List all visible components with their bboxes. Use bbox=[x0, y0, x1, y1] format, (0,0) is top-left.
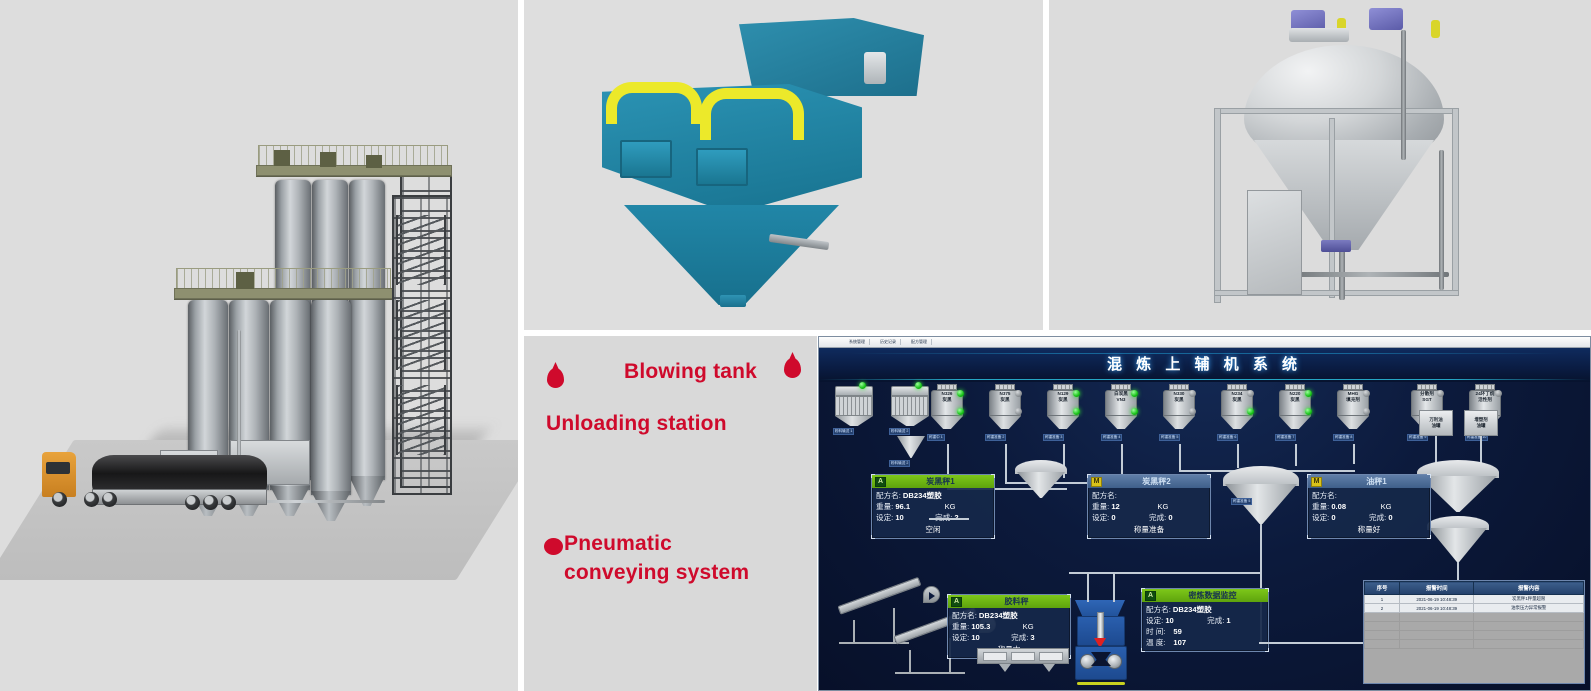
cell-content: 炭黑秤1秤量超限 bbox=[1474, 595, 1584, 604]
bottom-butterfly-valve bbox=[1321, 240, 1351, 252]
railing-lower bbox=[176, 268, 391, 290]
belt-tray bbox=[1011, 652, 1035, 661]
silo-label-line1: 24环丁烷 bbox=[1476, 391, 1495, 396]
silo-cone bbox=[1221, 416, 1253, 429]
silo-lamp-top-10 bbox=[1495, 390, 1502, 397]
silo-downpipe bbox=[1295, 444, 1297, 466]
card-header: M 油秤1 bbox=[1308, 475, 1430, 488]
card-header: A 胶料秤 bbox=[948, 595, 1070, 608]
card-body: 配方名: 重量: 12 KG 设定: 0 完成: bbox=[1088, 488, 1210, 538]
silo-tag-8: 称重准备 8 bbox=[1333, 434, 1354, 441]
temp-row: 温 度: 107 bbox=[1146, 637, 1264, 648]
silo-downpipe bbox=[1121, 444, 1123, 474]
weight-value: 96.1 bbox=[895, 501, 910, 512]
mode-badge: M bbox=[1311, 477, 1322, 487]
feeder-tag-2: 粉料输送 2 bbox=[889, 428, 910, 435]
silo-lamp-bottom-4 bbox=[1131, 408, 1138, 415]
silo-label-line1: N330 bbox=[1174, 391, 1185, 396]
truck-cab bbox=[42, 452, 76, 497]
setpoint-value: 10 bbox=[895, 512, 903, 523]
silo-back-3 bbox=[349, 180, 385, 480]
recipe-label: 配方名: bbox=[1312, 490, 1337, 501]
conveyor-belt-1 bbox=[837, 577, 921, 615]
done-label: 完成: bbox=[1149, 512, 1166, 523]
card-header: A 炭黑秤1 bbox=[872, 475, 994, 488]
oil-tank-1-label: 万利油油罐 bbox=[1420, 417, 1452, 428]
conveyor-drive-1[interactable] bbox=[923, 586, 940, 603]
setpoint-label: 设定: bbox=[876, 512, 893, 523]
photo-silo-farm bbox=[0, 0, 518, 691]
truck-wheel bbox=[84, 492, 99, 507]
oil-tank-2-label: 增塑剂油罐 bbox=[1465, 417, 1497, 428]
menu-item-system[interactable]: 系统管理 bbox=[845, 339, 870, 345]
support-leg-mid bbox=[1329, 118, 1335, 298]
inlet-actuator bbox=[864, 52, 886, 84]
done-label: 完成: bbox=[1011, 632, 1028, 643]
caption-pneumatic-line1: Pneumatic bbox=[564, 532, 672, 557]
card-body: 配方名: 重量: 0.08 KG 设定: 0 完成: bbox=[1308, 488, 1430, 538]
feeder-lamp-1 bbox=[859, 382, 866, 389]
support-leg-left bbox=[1214, 108, 1221, 303]
silo-label-line1: 白炭黑 bbox=[1114, 391, 1128, 396]
silo-label-line2: SGT bbox=[1422, 397, 1431, 402]
silo-lamp-top-9 bbox=[1437, 390, 1444, 397]
support-leg-right bbox=[1452, 108, 1459, 293]
menu-item-history[interactable]: 历史记录 bbox=[876, 339, 901, 345]
alarm-table[interactable]: 序号 报警时间 报警内容 1 2021-06-19 10:48:39 炭黑秤1秤… bbox=[1363, 580, 1585, 684]
weight-row: 重量: 105.3 KG bbox=[952, 621, 1066, 632]
feeder-2-outlet-tag: 粉料输送 2 bbox=[889, 460, 910, 467]
truck-wheel bbox=[221, 495, 236, 510]
tanker-skirt bbox=[92, 489, 267, 505]
table-row-empty bbox=[1365, 640, 1584, 649]
blower-unit-2 bbox=[320, 152, 336, 167]
belt-support bbox=[999, 664, 1011, 672]
card-title: 密炼数据监控 bbox=[1160, 590, 1265, 601]
feeder-lamp-2 bbox=[915, 382, 922, 389]
menu-item-recipe[interactable]: 配方管理 bbox=[907, 339, 932, 345]
cell-time: 2021-06-19 10:48:39 bbox=[1400, 604, 1474, 613]
status-text: 称量好 bbox=[1312, 524, 1426, 535]
weight-row: 重量: 0.08 KG bbox=[1312, 501, 1426, 512]
silo-cone bbox=[989, 416, 1021, 429]
stairs-flight-2 bbox=[396, 300, 446, 370]
cell-no: 1 bbox=[1365, 595, 1400, 604]
truck-wheel bbox=[203, 495, 218, 510]
silo-label-line1: 分散剂 bbox=[1420, 391, 1434, 396]
silo-lamp-top-7 bbox=[1305, 390, 1312, 397]
conveyor-leg bbox=[909, 650, 911, 672]
setpoint-label: 设定: bbox=[1092, 512, 1109, 523]
silo-label-line2: 炭黑 bbox=[1000, 397, 1009, 402]
mode-badge: A bbox=[1145, 591, 1156, 601]
recipe-row: 配方名: DB234塑胶 bbox=[952, 610, 1066, 621]
silo-tag-3: 称重准备 3 bbox=[1043, 434, 1064, 441]
weigh-funnel-tag: 称重准备 5 bbox=[1231, 498, 1252, 505]
setpoint-value: 10 bbox=[1165, 615, 1173, 626]
status-text: 称量准备 bbox=[1092, 524, 1206, 535]
weight-label: 重量: bbox=[876, 501, 893, 512]
photo-blowing-tank bbox=[1049, 0, 1591, 330]
recipe-row: 配方名: DB234塑胶 bbox=[876, 490, 990, 501]
hmi-title: 混 炼 上 辅 机 系 统 bbox=[819, 353, 1590, 374]
silo-label-line2: VN3 bbox=[1117, 397, 1126, 402]
silo-lamp-bottom-7 bbox=[1305, 408, 1312, 415]
weight-unit: KG bbox=[1381, 501, 1392, 512]
silo-tag-5: 称重准备 5 bbox=[1159, 434, 1180, 441]
weight-value: 105.3 bbox=[971, 621, 990, 632]
card-body: 配方名: DB234塑胶 设定: 10 完成: 1 时 间: 59 bbox=[1142, 602, 1268, 651]
recipe-label: 配方名: bbox=[1092, 490, 1117, 501]
recipe-row: 配方名: bbox=[1092, 490, 1206, 501]
stairs-flight-1 bbox=[396, 215, 446, 285]
silo-label-line1: N375 bbox=[1000, 391, 1011, 396]
silo-cone bbox=[1047, 416, 1079, 429]
recipe-value: DB234塑胶 bbox=[1173, 604, 1212, 615]
col-time: 报警时间 bbox=[1400, 582, 1474, 595]
alarm-table-grid: 序号 报警时间 报警内容 1 2021-06-19 10:48:39 炭黑秤1秤… bbox=[1364, 581, 1584, 649]
table-row[interactable]: 2 2021-06-19 10:48:39 油泵压力异常报警 bbox=[1365, 604, 1584, 613]
weight-label: 重量: bbox=[1312, 501, 1329, 512]
oil-tank-1[interactable]: 万利油油罐 bbox=[1419, 410, 1453, 436]
hmi-canvas: 混 炼 上 辅 机 系 统 粉料输送 1 粉料输送 2 粉料输送 2 bbox=[819, 348, 1590, 691]
tank-riser-pipe bbox=[1401, 30, 1406, 160]
feeder-2-cone bbox=[897, 436, 925, 458]
col-content: 报警内容 bbox=[1474, 582, 1584, 595]
recipe-value: DB234塑胶 bbox=[979, 610, 1018, 621]
card-title: 油秤1 bbox=[1326, 476, 1427, 487]
top-valve-actuator-2 bbox=[1369, 8, 1403, 30]
dot-marker-icon bbox=[544, 538, 563, 555]
blower-unit-4 bbox=[236, 272, 254, 289]
control-cabinet bbox=[1247, 190, 1302, 295]
hmi-menu-bar[interactable]: 系统管理 历史记录 配方管理 bbox=[819, 337, 1590, 348]
silo-tag-2: 称重准备 2 bbox=[985, 434, 1006, 441]
temp-value: 107 bbox=[1173, 637, 1186, 648]
silo-lamp-top-5 bbox=[1189, 390, 1196, 397]
mixer-feed-pipe bbox=[1113, 572, 1115, 602]
card-title: 炭黑秤1 bbox=[890, 476, 991, 487]
powder-feeder-2[interactable] bbox=[891, 386, 929, 426]
card-header: M 炭黑秤2 bbox=[1088, 475, 1210, 488]
silo-cone bbox=[1163, 416, 1195, 429]
silo-cone bbox=[1105, 416, 1137, 429]
silo-lamp-top-6 bbox=[1247, 390, 1254, 397]
silo-downpipe bbox=[1005, 444, 1007, 482]
silo-cone bbox=[1279, 416, 1311, 429]
silo-label-line1: MHG bbox=[1348, 391, 1359, 396]
return-pipe bbox=[1439, 150, 1444, 290]
feeder-tag-1: 粉料输送 1 bbox=[833, 428, 854, 435]
setpoint-label: 设定: bbox=[952, 632, 969, 643]
hopper-access-door-2 bbox=[696, 148, 748, 186]
col-no: 序号 bbox=[1365, 582, 1400, 595]
silo-lamp-bottom-8 bbox=[1363, 408, 1370, 415]
belt-tray bbox=[983, 652, 1007, 661]
temp-label: 温 度: bbox=[1146, 637, 1165, 648]
hopper-handle-right bbox=[700, 88, 804, 140]
oil-buffer-funnel-cone bbox=[1429, 528, 1487, 562]
blower-unit-1 bbox=[274, 150, 290, 166]
blower-unit-3 bbox=[366, 155, 382, 168]
stairs-flight-3 bbox=[396, 385, 446, 455]
silo-label-line2: 炭黑 bbox=[1290, 397, 1299, 402]
table-row-empty bbox=[1365, 631, 1584, 640]
silo-cone bbox=[1337, 416, 1369, 429]
caption-pneumatic-line2: conveying system bbox=[564, 561, 749, 586]
oil-tank-2-downpipe bbox=[1480, 436, 1482, 464]
hopper-handle-left bbox=[606, 82, 702, 124]
status-text: 空闲 bbox=[876, 524, 990, 535]
card-body: 配方名: DB234塑胶 重量: 96.1 KG 设定: 10 完 bbox=[872, 488, 994, 538]
alarm-table-header-row: 序号 报警时间 报警内容 bbox=[1365, 582, 1584, 595]
silo-lamp-bottom-2 bbox=[1015, 408, 1022, 415]
weight-row: 重量: 96.1 KG bbox=[876, 501, 990, 512]
recipe-label: 配方名: bbox=[952, 610, 977, 621]
silo-lamp-bottom-5 bbox=[1189, 408, 1196, 415]
silo-label-line2: 炭黑 bbox=[1174, 397, 1183, 402]
silo-front-4 bbox=[311, 300, 351, 495]
silo-lamp-bottom-1 bbox=[957, 408, 964, 415]
powder-feeder-1[interactable] bbox=[835, 386, 873, 426]
weight-row: 重量: 12 KG bbox=[1092, 501, 1206, 512]
hopper-outlet-flange bbox=[720, 295, 746, 307]
done-label: 完成: bbox=[1369, 512, 1386, 523]
silo-lamp-top-4 bbox=[1131, 390, 1138, 397]
hopper-access-door-1 bbox=[620, 140, 672, 178]
setpoint-row: 设定: 0 完成: 0 bbox=[1092, 512, 1206, 523]
photo-weigh-hopper bbox=[524, 0, 1043, 330]
truck-wheel bbox=[52, 492, 67, 507]
weigh-funnel-top bbox=[1223, 466, 1299, 486]
discharge-pipe-horizontal bbox=[1289, 272, 1449, 277]
top-manway bbox=[1289, 28, 1349, 42]
caption-blowing-tank: Blowing tank bbox=[624, 360, 757, 385]
cell-content: 油泵压力异常报警 bbox=[1474, 604, 1584, 613]
recipe-row: 配方名: DB234塑胶 bbox=[1146, 604, 1264, 615]
oil-buffer-funnel-top bbox=[1427, 516, 1489, 530]
mode-badge: A bbox=[951, 597, 962, 607]
table-row[interactable]: 1 2021-06-19 10:48:39 炭黑秤1秤量超限 bbox=[1365, 595, 1584, 604]
silo-tag-4: 称重准备 4 bbox=[1101, 434, 1122, 441]
silo-lamp-top-8 bbox=[1363, 390, 1370, 397]
card-title: 胶料秤 bbox=[966, 596, 1067, 607]
drop-marker-icon bbox=[784, 358, 801, 378]
silo-cone bbox=[931, 416, 963, 429]
silo-downpipe bbox=[1237, 444, 1239, 468]
card-oil-scale-1[interactable]: M 油秤1 配方名: 重量: 0.08 KG bbox=[1307, 474, 1431, 539]
silo-downpipe bbox=[1179, 444, 1181, 470]
silo-label-line2: 炭黑 bbox=[1058, 397, 1067, 402]
mode-badge: M bbox=[1091, 477, 1102, 487]
process-line bbox=[1069, 572, 1261, 574]
weight-value: 0.08 bbox=[1331, 501, 1346, 512]
card-header: A 密炼数据监控 bbox=[1142, 589, 1268, 602]
weight-unit: KG bbox=[1157, 501, 1168, 512]
setpoint-row: 设定: 10 完成: 1 bbox=[1146, 615, 1264, 626]
oil-tank-1-downpipe bbox=[1435, 436, 1437, 464]
drop-marker-icon bbox=[547, 368, 564, 388]
silo-label-line1: N220 bbox=[1290, 391, 1301, 396]
silo-lamp-top-2 bbox=[1015, 390, 1022, 397]
weight-label: 重量: bbox=[952, 621, 969, 632]
time-value: 59 bbox=[1173, 626, 1181, 637]
mixer-feed-pipe bbox=[1087, 572, 1089, 602]
time-row: 时 间: 59 bbox=[1146, 626, 1264, 637]
captions-panel: Blowing tank Unloading station Pneumatic… bbox=[524, 336, 817, 691]
recipe-row: 配方名: bbox=[1312, 490, 1426, 501]
conveyor-base bbox=[895, 672, 965, 674]
collector-funnel-cone-left bbox=[1017, 472, 1065, 498]
silo-label-line1: N129 bbox=[1058, 391, 1069, 396]
silo-lamp-top-3 bbox=[1073, 390, 1080, 397]
setpoint-value: 10 bbox=[971, 632, 979, 643]
silo-lamp-bottom-6 bbox=[1247, 408, 1254, 415]
belt-tray bbox=[1039, 652, 1063, 661]
mixer-rotor-right bbox=[1107, 654, 1122, 669]
silo-label-line1: N326 bbox=[942, 391, 953, 396]
platform-lower bbox=[174, 288, 394, 299]
silo-lamp-bottom-3 bbox=[1073, 408, 1080, 415]
silo-lamp-top-1 bbox=[957, 390, 964, 397]
cell-no: 2 bbox=[1365, 604, 1400, 613]
belt-support bbox=[1043, 664, 1055, 672]
mixer-drop-door bbox=[1077, 682, 1125, 685]
truck-wheel bbox=[185, 495, 200, 510]
cell-time: 2021-06-19 10:48:39 bbox=[1400, 595, 1474, 604]
setpoint-row: 设定: 0 完成: 0 bbox=[1312, 512, 1426, 523]
recipe-label: 配方名: bbox=[876, 490, 901, 501]
hopper-inlet-box bbox=[739, 18, 924, 96]
truck-wheel bbox=[102, 492, 117, 507]
product-collage-page: Blowing tank Unloading station Pneumatic… bbox=[0, 0, 1591, 691]
setpoint-label: 设定: bbox=[1146, 615, 1163, 626]
silo-label-line2: 炭黑 bbox=[1232, 397, 1241, 402]
platform-upper bbox=[256, 165, 452, 176]
silo-label-line2: 炭黑 bbox=[942, 397, 951, 402]
silo-label-line1: N234 bbox=[1232, 391, 1243, 396]
setpoint-row: 设定: 10 完成: 3 bbox=[952, 632, 1066, 643]
support-frame-top bbox=[1214, 108, 1459, 114]
done-label: 完成: bbox=[1207, 615, 1224, 626]
hopper-discharge-cone bbox=[624, 205, 839, 305]
collector-funnel-top-left bbox=[1015, 460, 1067, 474]
card-carbon-scale-1[interactable]: A 炭黑秤1 配方名: DB234塑胶 重量: 96.1 KG bbox=[871, 474, 995, 539]
process-line bbox=[929, 518, 969, 520]
silo-label-line2: 活性剂 bbox=[1478, 397, 1492, 402]
silo-downpipe bbox=[1353, 444, 1355, 464]
cab-window bbox=[46, 462, 70, 474]
time-label: 时 间: bbox=[1146, 626, 1165, 637]
card-carbon-scale-2[interactable]: M 炭黑秤2 配方名: 重量: 12 KG bbox=[1087, 474, 1211, 539]
silo-tag-6: 称重准备 6 bbox=[1217, 434, 1238, 441]
card-mixing-monitor[interactable]: A 密炼数据监控 配方名: DB234塑胶 设定: 10 完成: 1 bbox=[1141, 588, 1269, 652]
weight-unit: KG bbox=[1023, 621, 1034, 632]
silo-label-line2: 填充剂 bbox=[1346, 397, 1360, 402]
mixer-ram bbox=[1097, 612, 1104, 640]
yellow-handle-2 bbox=[1431, 20, 1440, 38]
silo-tag-7: 称重准备 7 bbox=[1275, 434, 1296, 441]
recipe-label: 配方名: bbox=[1146, 604, 1171, 615]
weight-value: 12 bbox=[1111, 501, 1119, 512]
conveyor-leg bbox=[853, 620, 855, 642]
recipe-value: DB234塑胶 bbox=[903, 490, 942, 501]
weight-unit: KG bbox=[945, 501, 956, 512]
silo-tag-1: 称重中 1 bbox=[927, 434, 945, 441]
weight-label: 重量: bbox=[1092, 501, 1109, 512]
mode-badge: A bbox=[875, 477, 886, 487]
card-title: 炭黑秤2 bbox=[1106, 476, 1207, 487]
hmi-scada-screen[interactable]: 系统管理 历史记录 配方管理 混 炼 上 辅 机 系 统 粉料输送 1 粉料输送… bbox=[818, 336, 1591, 691]
oil-tank-2[interactable]: 增塑剂油罐 bbox=[1464, 410, 1498, 436]
table-row-empty bbox=[1365, 613, 1584, 622]
setpoint-label: 设定: bbox=[1312, 512, 1329, 523]
mixer-rotor-left bbox=[1080, 654, 1095, 669]
caption-unloading-station: Unloading station bbox=[546, 412, 727, 437]
table-row-empty bbox=[1365, 622, 1584, 631]
